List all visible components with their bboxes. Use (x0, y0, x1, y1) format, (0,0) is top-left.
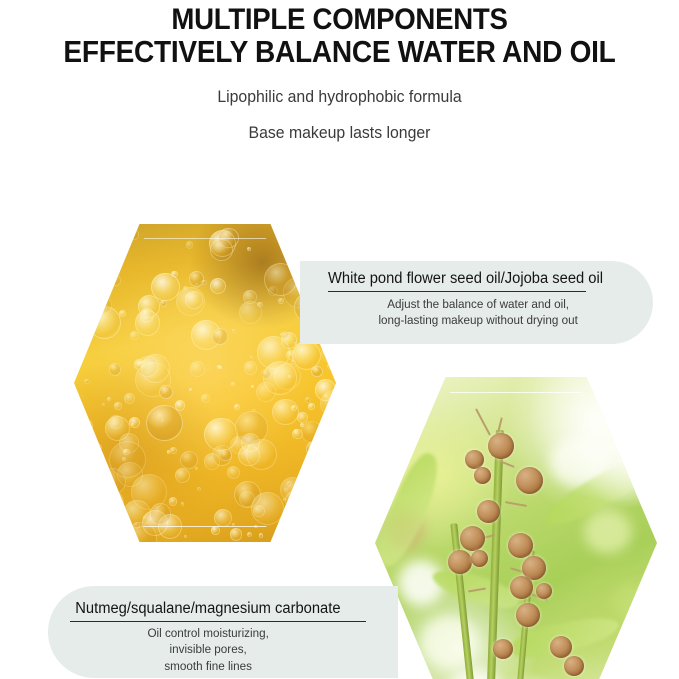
oil-bubble (250, 356, 253, 359)
bokeh-blob (584, 510, 632, 554)
callout-nutmeg-heading: Nutmeg/squalane/magnesium carbonate (62, 586, 381, 617)
nutmeg-berry (516, 467, 543, 494)
nutmeg-berry (471, 550, 488, 567)
oil-bubble (114, 402, 122, 410)
callout-nutmeg-body-line-2: invisible pores, (70, 641, 346, 657)
nutmeg-berry (536, 583, 552, 599)
callout-nutmeg-body: Oil control moisturizing, invisible pore… (70, 622, 389, 674)
oil-bubble (150, 503, 171, 524)
oil-bubble (76, 294, 88, 306)
oil-bubble (291, 518, 294, 521)
oil-bubble (201, 394, 210, 403)
nutmeg-berry (564, 656, 584, 676)
oil-bubble (239, 491, 255, 507)
oil-bubble (278, 298, 283, 303)
oil-bubble (119, 310, 126, 317)
oil-bubble (79, 260, 83, 264)
oil-bubble (180, 451, 198, 469)
oil-bubble (91, 243, 111, 263)
oil-bubble (264, 263, 297, 296)
oil-bubble (107, 397, 111, 401)
oil-bubble (124, 393, 135, 404)
callout-panel-oil: White pond flower seed oil/Jojoba seed o… (300, 261, 653, 344)
oil-bubble (259, 533, 263, 537)
nutmeg-berry (516, 603, 540, 627)
plant-hexagon-image (375, 377, 657, 679)
oil-bubble (254, 525, 257, 528)
nutmeg-berry (508, 533, 533, 558)
header-subtitle-block: Lipophilic and hydrophobic formula Base … (0, 88, 679, 141)
oil-bubble (80, 483, 83, 486)
oil-bubble (332, 400, 358, 426)
oil-bubble (122, 457, 126, 461)
oil-bubble (230, 528, 243, 541)
oil-bubble (123, 500, 151, 528)
oil-bubble (314, 443, 340, 469)
nutmeg-berry (477, 500, 500, 523)
oil-bubble (234, 404, 240, 410)
oil-bubble (189, 388, 192, 391)
oil-bubble (232, 523, 235, 526)
oil-bubble (309, 505, 336, 532)
subtitle-line-2: Base makeup lasts longer (24, 124, 655, 141)
callout-panel-nutmeg: Nutmeg/squalane/magnesium carbonate Oil … (48, 586, 398, 678)
oil-bubble (239, 301, 262, 324)
twig (475, 408, 491, 435)
oil-bubble (214, 509, 233, 528)
oil-bubble (176, 287, 205, 316)
header-title-block: MULTIPLE COMPONENTS EFFECTIVELY BALANCE … (0, 4, 679, 69)
oil-bubble (251, 492, 284, 525)
oil-bubble (94, 536, 105, 547)
oil-bubble (212, 328, 228, 344)
oil-bubble (170, 447, 177, 454)
oil-bubble (247, 247, 251, 251)
oil-bubble (287, 481, 292, 486)
oil-bubble (109, 363, 121, 375)
oil-bubble (84, 379, 90, 385)
oil-bubble (123, 449, 129, 455)
oil-bubble (87, 241, 91, 245)
oil-bubble (288, 497, 296, 505)
oil-bubble (195, 467, 198, 470)
nutmeg-berry (493, 639, 513, 659)
oil-bubble (244, 361, 258, 375)
callout-nutmeg-body-line-3: smooth fine lines (70, 658, 346, 674)
oil-bubble (288, 375, 291, 378)
oil-bubble (300, 423, 304, 427)
oil-bubble (175, 400, 185, 410)
oil-bubble (331, 418, 361, 448)
oil-bubble (84, 278, 87, 281)
oil-bubble (301, 421, 322, 442)
oil-bubble (327, 224, 332, 229)
oil-bubble (181, 502, 184, 505)
oil-bubble (88, 535, 97, 544)
oil-bubble (141, 354, 170, 383)
oil-bubble (201, 280, 206, 285)
oil-bubble (211, 526, 220, 535)
nutmeg-berry (448, 550, 472, 574)
bokeh-blob (612, 583, 656, 623)
oil-bubble (272, 399, 298, 425)
oil-bubble (231, 382, 235, 386)
callout-nutmeg-body-line-1: Oil control moisturizing, (70, 625, 346, 641)
callout-oil-body-line-1: Adjust the balance of water and oil, (336, 297, 620, 313)
oil-bubble (140, 308, 154, 322)
title-line-1: MULTIPLE COMPONENTS (27, 4, 652, 36)
oil-bubble (87, 509, 117, 539)
oil-bubble (184, 535, 187, 538)
oil-bubble (235, 411, 268, 444)
subtitle-line-1: Lipophilic and hydrophobic formula (24, 88, 655, 105)
oil-bubble (305, 397, 311, 403)
oil-bubble (308, 403, 315, 410)
oil-bubble (167, 450, 170, 453)
callout-oil-body-line-2: long-lasting makeup without drying out (336, 313, 620, 329)
oil-bubble (306, 441, 322, 457)
oil-bubble (78, 419, 93, 434)
oil-bubble (82, 519, 86, 523)
oil-bubble (100, 247, 103, 250)
oil-bubble (94, 296, 112, 314)
oil-bubble (313, 445, 330, 462)
oil-bubble (103, 479, 106, 482)
oil-bubble (186, 241, 193, 248)
callout-oil-body: Adjust the balance of water and oil, lon… (336, 292, 645, 329)
oil-bubble (197, 487, 201, 491)
oil-bubble (204, 453, 220, 469)
title-line-2: EFFECTIVELY BALANCE WATER AND OIL (27, 36, 652, 69)
oil-bubble (292, 429, 302, 439)
oil-bubble (109, 269, 113, 273)
oil-bubble (83, 498, 97, 512)
oil-bubble (332, 344, 335, 347)
oil-bubble (315, 379, 337, 401)
oil-bubble (99, 468, 126, 495)
oil-bubble (78, 480, 83, 485)
oil-bubble (210, 239, 233, 262)
sun-glow (572, 397, 679, 507)
oil-bubble (227, 466, 240, 479)
oil-bubble (301, 245, 304, 248)
oil-bubble (175, 468, 190, 483)
oil-bubble (322, 453, 350, 481)
oil-bubble (272, 538, 275, 541)
nutmeg-berry (488, 433, 514, 459)
leaf-blade (369, 448, 449, 571)
oil-bubble (321, 343, 341, 363)
nutmeg-berry (460, 526, 485, 551)
oil-bubble (99, 535, 117, 553)
oil-bubble (129, 534, 133, 538)
oil-bubble (280, 477, 305, 502)
callout-oil-heading: White pond flower seed oil/Jojoba seed o… (328, 261, 637, 287)
oil-bubble (219, 366, 222, 369)
twig (505, 501, 527, 507)
oil-bubble (247, 532, 252, 537)
nutmeg-berry (474, 467, 491, 484)
oil-bubble (151, 273, 179, 301)
oil-bubble (251, 385, 254, 388)
oil-bubble (190, 361, 205, 376)
oil-bubble (327, 362, 335, 370)
oil-bubble (210, 278, 226, 294)
oil-bubble (316, 236, 321, 241)
oil-hexagon-image (74, 224, 336, 542)
oil-bubble (232, 329, 236, 333)
oil-bubble (219, 449, 232, 462)
oil-bubble (93, 488, 125, 520)
oil-bubble (324, 542, 353, 571)
oil-bubble (256, 382, 276, 402)
nutmeg-berry (550, 636, 572, 658)
oil-bubble (110, 275, 121, 286)
oil-bubble (169, 497, 177, 505)
oil-bubble (94, 444, 102, 452)
oil-bubble (87, 243, 93, 249)
oil-bubble (313, 243, 322, 252)
oil-bubble (88, 464, 94, 470)
oil-bubble (159, 385, 173, 399)
oil-bubble (292, 500, 298, 506)
oil-bubble (102, 403, 105, 406)
oil-bubble (129, 229, 139, 239)
infographic-page: MULTIPLE COMPONENTS EFFECTIVELY BALANCE … (0, 0, 679, 679)
